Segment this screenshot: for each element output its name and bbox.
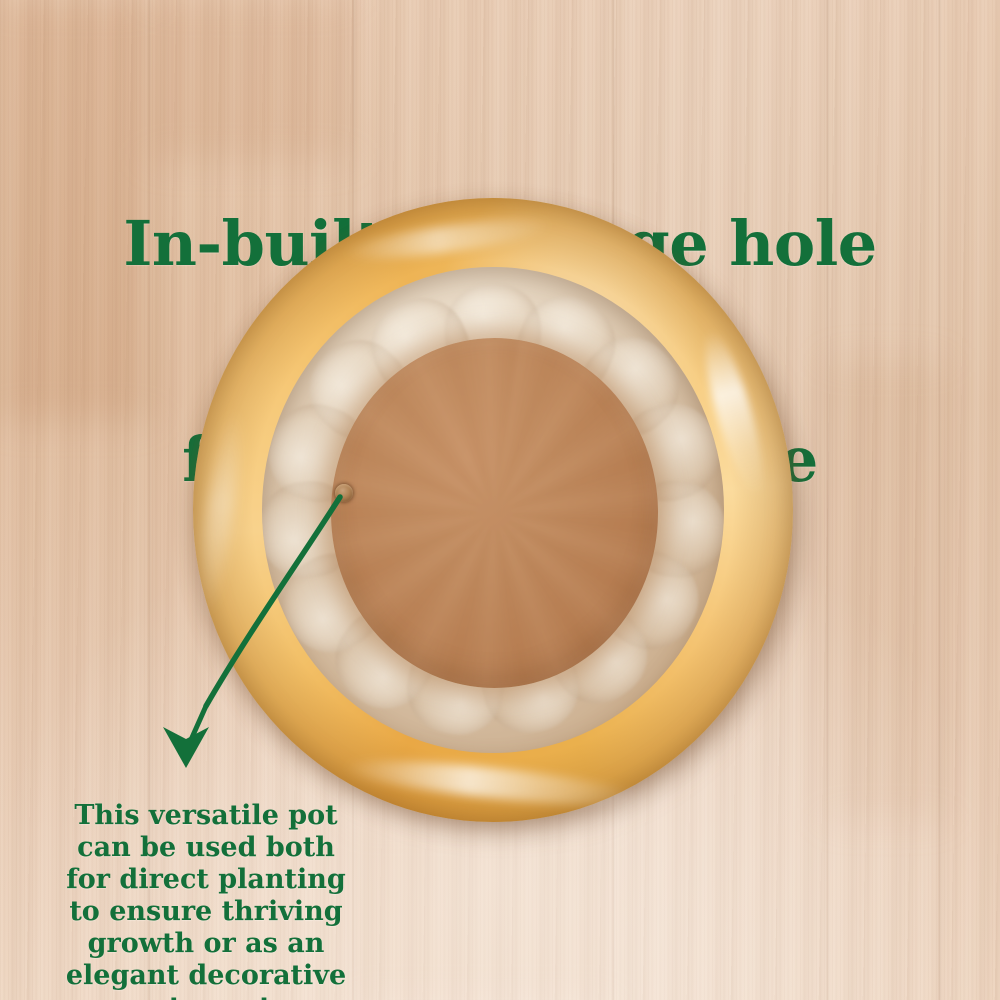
pot-floor-facet-shading bbox=[331, 338, 658, 687]
product-feature-image: In-built drainage hole for versatile usa… bbox=[0, 0, 1000, 1000]
pot-terracotta-floor bbox=[331, 338, 658, 687]
caption-text: This versatile pot can be used both for … bbox=[58, 800, 354, 1000]
drainage-hole bbox=[335, 484, 353, 502]
planter-pot bbox=[193, 198, 793, 822]
